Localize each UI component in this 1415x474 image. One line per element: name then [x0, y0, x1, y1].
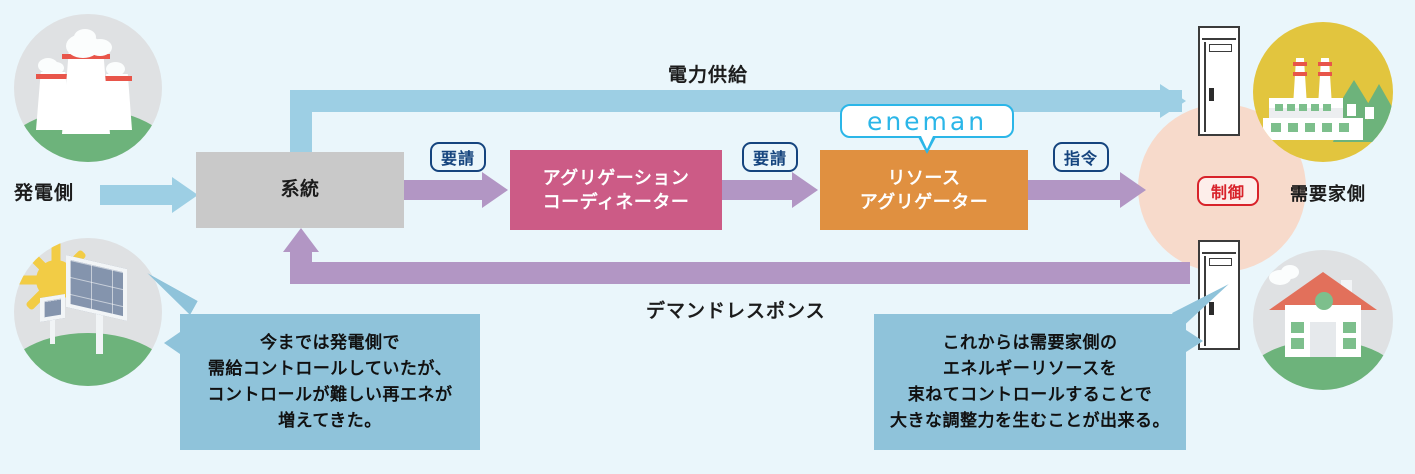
badge-request-2-label: 要請 [753, 145, 787, 169]
arrow-resource-to-demand [1028, 180, 1120, 200]
note-right-line-4: 大きな調整力を生むことが出来る。 [890, 408, 1170, 434]
house-icon [1253, 250, 1393, 390]
box-res-line2: アグリゲーター [860, 190, 989, 214]
label-demand-response: デマンドレスポンス [646, 296, 826, 323]
box-agg-line1: アグリゲーション [543, 166, 690, 190]
note-left-line-1: 今までは発電側で [260, 330, 400, 356]
electrical-cabinet-icon-bottom [1198, 240, 1240, 350]
note-left-line-3: コントロールが難しい再エネが [208, 382, 453, 408]
note-left-line-4: 増えてきた。 [278, 408, 382, 434]
arrow-demand-riser [290, 250, 312, 284]
note-right: これからは需要家側の エネルギーリソースを 束ねてコントロールすることで 大きな… [874, 314, 1186, 450]
eneman-label: eneman [867, 107, 987, 136]
badge-request-1-label: 要請 [441, 145, 475, 169]
box-aggregation-coordinator[interactable]: アグリゲーション コーディネーター [510, 150, 722, 230]
badge-request-1: 要請 [430, 142, 486, 172]
arrow-supply-horizontal [290, 90, 1182, 112]
arrowhead-aggregator-to-resource [792, 172, 818, 208]
label-demand-side: 需要家側 [1290, 180, 1366, 206]
badge-control-label: 制御 [1211, 179, 1245, 203]
arrow-aggregator-to-resource [722, 180, 792, 200]
note-left: 今までは発電側で 需給コントロールしていたが、 コントロールが難しい再エネが 増… [180, 314, 480, 450]
box-agg-line2: コーディネーター [543, 190, 690, 214]
label-generation-side: 発電側 [14, 178, 74, 205]
badge-request-2: 要請 [742, 142, 798, 172]
arrowhead-resource-to-demand [1120, 172, 1146, 208]
arrowhead-demand [283, 228, 319, 252]
power-plant-icon [14, 14, 162, 162]
note-right-line-1: これからは需要家側の [943, 330, 1118, 356]
arrowhead-grid-to-aggregator [482, 172, 508, 208]
arrow-grid-to-aggregator [404, 180, 482, 200]
badge-command-label: 指令 [1064, 145, 1098, 169]
arrowhead-supply [1160, 84, 1186, 118]
note-right-line-2: エネルギーリソースを [943, 356, 1117, 382]
box-resource-aggregator[interactable]: リソース アグリゲーター [820, 150, 1028, 230]
box-grid[interactable]: 系統 [196, 152, 404, 228]
arrowhead-generation-to-grid [172, 177, 198, 213]
eneman-callout: eneman [840, 104, 1014, 156]
box-grid-label: 系統 [280, 177, 319, 203]
diagram-canvas: 発電側 [0, 0, 1415, 474]
box-res-line1: リソース [887, 166, 960, 190]
badge-control: 制御 [1197, 176, 1259, 206]
badge-command: 指令 [1053, 142, 1109, 172]
label-power-supply: 電力供給 [668, 60, 748, 87]
note-left-line-2: 需給コントロールしていたが、 [208, 356, 452, 382]
note-right-line-3: 束ねてコントロールすることで [908, 382, 1153, 408]
arrow-demand-horizontal [302, 262, 1190, 284]
electrical-cabinet-icon-top [1198, 26, 1240, 136]
arrow-generation-to-grid [100, 185, 172, 205]
factory-icon [1253, 22, 1393, 162]
solar-panel-icon [14, 238, 162, 386]
